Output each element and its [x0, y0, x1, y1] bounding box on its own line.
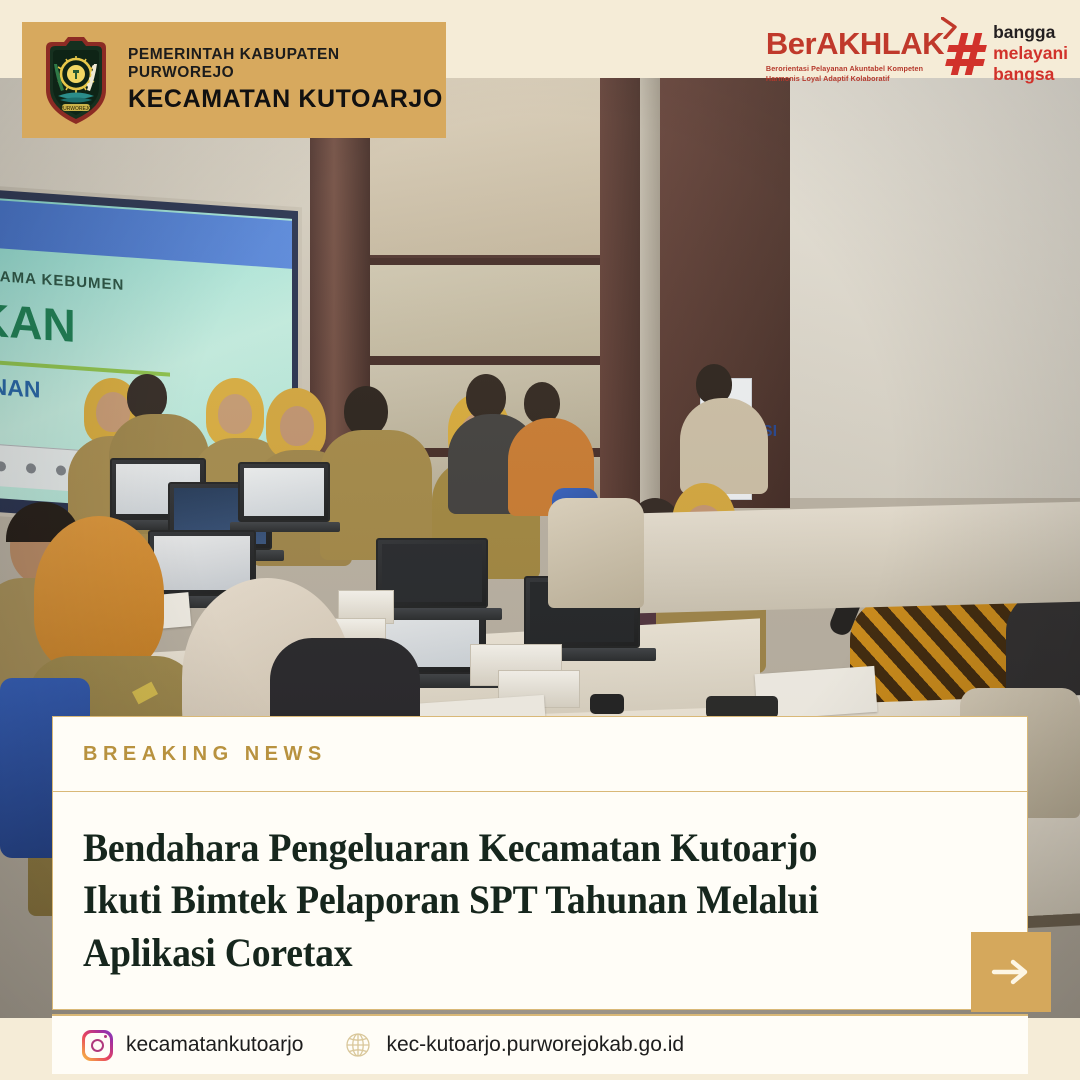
breaking-news-banner: BREAKING NEWS [52, 716, 1028, 792]
instagram-entry[interactable]: kecamatankutoarjo [82, 1030, 303, 1061]
photo-doorway [640, 78, 662, 508]
header-line-government: PEMERINTAH KABUPATEN PURWOREJO [128, 46, 446, 82]
website-entry[interactable]: kec-kutoarjo.purworejokab.go.id [343, 1030, 684, 1060]
bangga-melayani-bangsa-logo: bangga melayani bangsa [946, 22, 1068, 85]
header-line-district: KECAMATAN KUTOARJO [128, 85, 446, 114]
berakhlak-tagline-line2: Harmonis Loyal Adaptif Kolaboratif [766, 74, 944, 84]
bangga-word-1: bangga [993, 22, 1068, 43]
instagram-handle: kecamatankutoarjo [126, 1033, 303, 1057]
photo-cabinet-column [600, 78, 640, 508]
berakhlak-suffix: AKHLAK [816, 26, 944, 61]
website-url: kec-kutoarjo.purworejokab.go.id [386, 1033, 684, 1057]
photo-cabinet-shelf [370, 258, 600, 265]
berakhlak-tagline: Berorientasi Pelayanan Akuntabel Kompete… [766, 64, 944, 85]
news-headline: Bendahara Pengeluaran Kecamatan Kutoarjo… [83, 822, 883, 980]
photo-phone [706, 696, 778, 718]
berakhlak-prefix: Ber [766, 26, 816, 61]
berakhlak-logo: BerAKHLAK Berorientasi Pelayanan Akuntab… [766, 26, 944, 85]
headline-container: Bendahara Pengeluaran Kecamatan Kutoarjo… [52, 792, 1028, 1010]
purworejo-regency-crest-icon: PURWOREJO [40, 34, 112, 126]
photo-table [600, 502, 1080, 615]
instagram-icon [82, 1030, 113, 1061]
photo-cabinet-shelf [370, 356, 600, 365]
news-card: BREAKING NEWS Bendahara Pengeluaran Keca… [52, 716, 1028, 1010]
arrow-right-icon [991, 957, 1031, 987]
social-footer: kecamatankutoarjo kec-kutoarjo.purworejo… [52, 1014, 1028, 1074]
header-identity-bar: PURWOREJO PEMERINTAH KABUPATEN PURWOREJO… [22, 22, 446, 138]
photo-phone [590, 694, 624, 714]
bangga-word-3: bangsa [993, 64, 1068, 85]
berakhlak-wordmark: BerAKHLAK [766, 26, 944, 62]
svg-text:PURWOREJO: PURWOREJO [60, 106, 93, 112]
photo-cabinet-panel [370, 263, 600, 363]
berakhlak-tagline-line1: Berorientasi Pelayanan Akuntabel Kompete… [766, 64, 944, 74]
hashtag-icon [946, 31, 986, 77]
globe-icon [343, 1030, 373, 1060]
photo-wall-right [790, 78, 1080, 498]
breaking-news-label: BREAKING NEWS [83, 743, 327, 766]
next-arrow-button[interactable] [971, 932, 1051, 1012]
bangga-word-2: melayani [993, 43, 1068, 64]
